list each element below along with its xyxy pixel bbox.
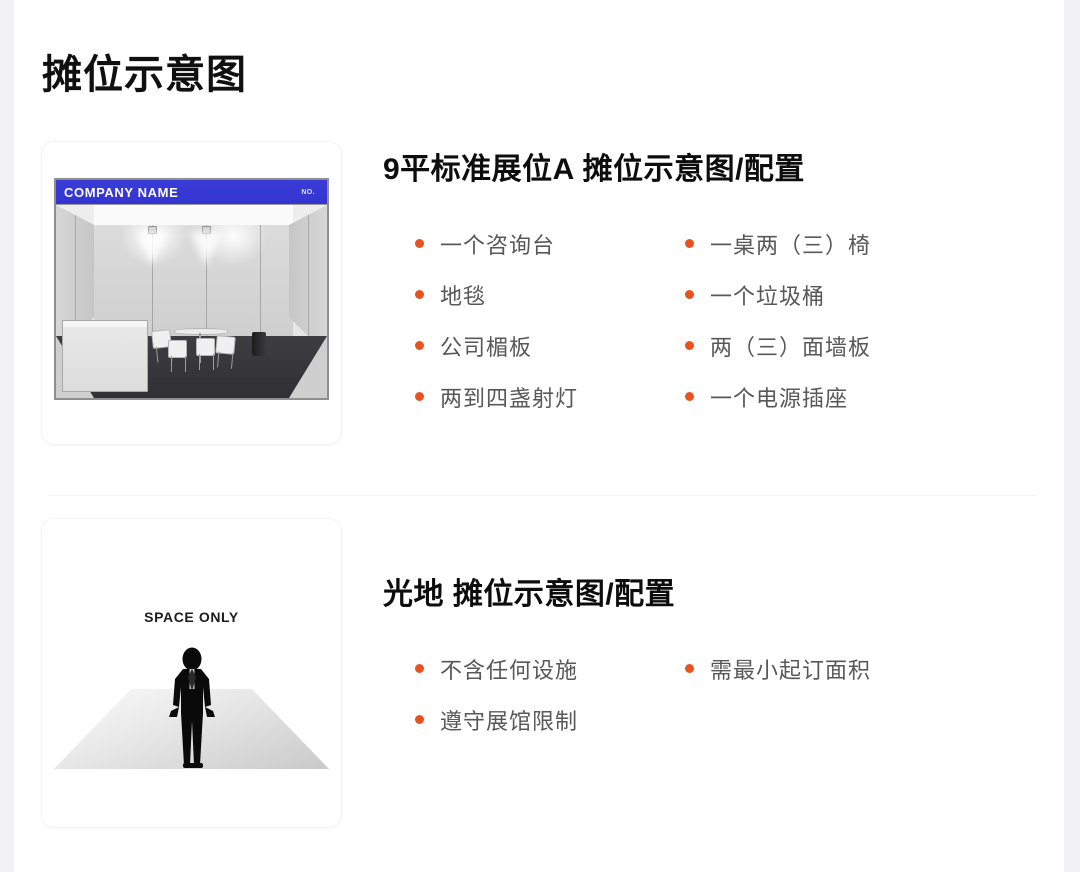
feature-label: 一个垃圾桶 [710,279,825,311]
feature-label: 遵守展馆限制 [440,704,578,736]
feature-item: 一个咨询台 [383,218,653,269]
feature-item-empty [653,694,1036,745]
feature-label: 一个电源插座 [710,381,848,413]
feature-label: 需最小起订面积 [710,653,871,685]
booth-trash-bin [252,332,266,356]
bullet-dot-icon [685,239,694,248]
section-space-only: SPACE ONLY [42,519,1036,827]
booth-chair [196,338,215,356]
space-only-illustration: SPACE ONLY [42,519,341,827]
booth-table [174,328,228,335]
booth-light-beam-left [136,232,168,266]
space-only-label: SPACE ONLY [42,609,341,625]
section-standard-booth: COMPANY NAME NO. [42,142,1036,444]
bullet-dot-icon [415,341,424,350]
feature-item: 一桌两（三）椅 [653,218,1036,269]
space-only-image-card[interactable]: SPACE ONLY [42,519,341,827]
bullet-dot-icon [415,239,424,248]
bullet-dot-icon [415,392,424,401]
booth-right-wall [289,205,327,355]
fascia-number-label: NO. [301,189,315,196]
page-title: 摊位示意图 [42,51,247,99]
standard-booth-feature-list: 一个咨询台 一桌两（三）椅 地毯 一个垃圾桶 公司楣板 [383,218,1036,422]
feature-label: 一桌两（三）椅 [710,228,871,260]
bullet-dot-icon [415,715,424,724]
standard-booth-image-card[interactable]: COMPANY NAME NO. [42,142,341,444]
feature-item: 地毯 [383,269,653,320]
space-only-feature-list: 不含任何设施 需最小起订面积 遵守展馆限制 [383,643,1036,745]
space-only-heading: 光地 摊位示意图/配置 [383,577,1036,613]
page-container: 摊位示意图 COMPANY NAME NO. [14,0,1064,872]
bullet-dot-icon [415,664,424,673]
feature-item: 一个垃圾桶 [653,269,1036,320]
booth-reception-counter [62,324,148,392]
feature-label: 两到四盏射灯 [440,381,578,413]
booth-chair [168,340,187,358]
person-silhouette-icon [161,647,223,774]
bullet-dot-icon [685,290,694,299]
booth-floor-right-edge [289,336,327,398]
feature-item: 两到四盏射灯 [383,371,653,422]
feature-label: 不含任何设施 [440,653,578,685]
feature-item: 公司楣板 [383,320,653,371]
feature-label: 两（三）面墙板 [710,330,871,362]
booth-ceiling [94,205,293,225]
bullet-dot-icon [415,290,424,299]
section-divider [48,495,1036,496]
booth-chair [215,335,235,355]
standard-booth-text-column: 9平标准展位A 摊位示意图/配置 一个咨询台 一桌两（三）椅 地毯 一个垃圾桶 [383,142,1036,422]
feature-item: 需最小起订面积 [653,643,1036,694]
fascia-company-name: COMPANY NAME [64,185,178,200]
space-only-text-column: 光地 摊位示意图/配置 不含任何设施 需最小起订面积 遵守展馆限制 [383,519,1036,745]
feature-label: 地毯 [440,279,486,311]
booth-render-illustration: COMPANY NAME NO. [54,178,329,400]
booth-light-beam-right [190,232,222,266]
feature-label: 公司楣板 [440,330,532,362]
feature-item: 一个电源插座 [653,371,1036,422]
feature-label: 一个咨询台 [440,228,555,260]
feature-item: 两（三）面墙板 [653,320,1036,371]
booth-fascia-banner: COMPANY NAME NO. [56,180,327,205]
bullet-dot-icon [685,392,694,401]
feature-item: 遵守展馆限制 [383,694,653,745]
bullet-dot-icon [685,664,694,673]
standard-booth-heading: 9平标准展位A 摊位示意图/配置 [383,152,1036,188]
bullet-dot-icon [685,341,694,350]
feature-item: 不含任何设施 [383,643,653,694]
